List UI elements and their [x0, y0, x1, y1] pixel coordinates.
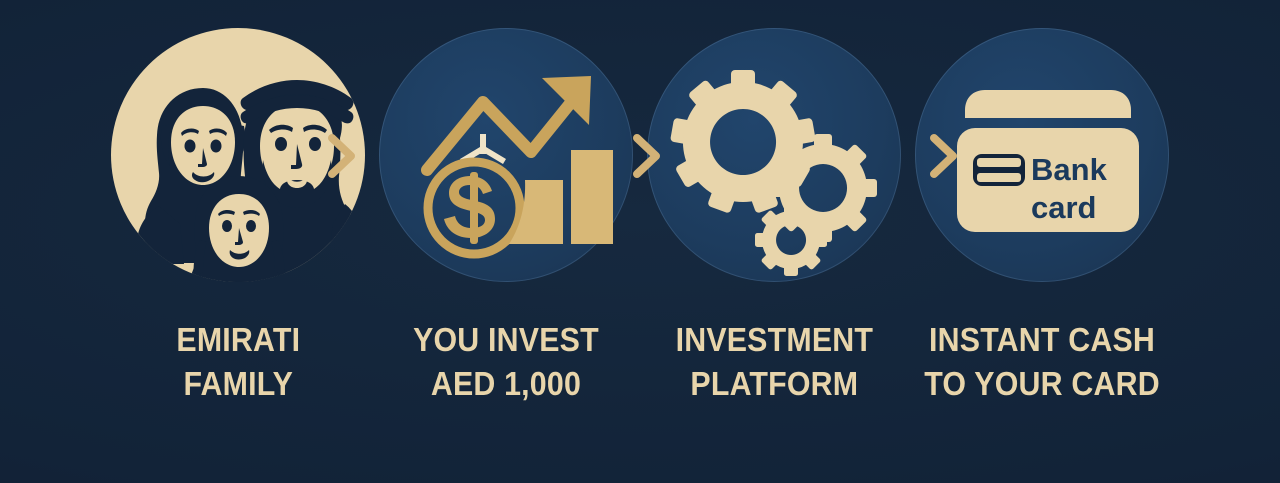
step-3-caption-line-1: INVESTMENT [675, 318, 873, 362]
step-4-caption-line-2: TO YOUR CARD [924, 362, 1160, 406]
family-icon [111, 28, 365, 282]
investment-process-infographic: EMIRATI FAMILY [0, 0, 1280, 483]
step-1-caption-line-2: FAMILY [176, 362, 300, 406]
step-you-invest: YOU INVEST AED 1,000 [372, 0, 640, 405]
step-instant-cash: Bank card INSTANT CASH TO YOUR CARD [908, 0, 1176, 405]
step-emirati-family: EMIRATI FAMILY [104, 0, 372, 405]
step-2-caption-line-2: AED 1,000 [413, 362, 599, 406]
card-chip-icon [973, 154, 1025, 186]
steps-row: EMIRATI FAMILY [0, 0, 1280, 483]
card-label-line-1: Bank [1031, 152, 1108, 187]
step-4-icon-container: Bank card [915, 28, 1169, 282]
step-investment-platform: INVESTMENT PLATFORM [640, 0, 908, 405]
step-1-caption-line-1: EMIRATI [176, 318, 300, 362]
step-1-caption: EMIRATI FAMILY [176, 318, 300, 405]
step-2-caption-line-1: YOU INVEST [413, 318, 599, 362]
step-3-caption-line-2: PLATFORM [675, 362, 873, 406]
step-1-icon-container [111, 28, 365, 282]
step-3-caption: INVESTMENT PLATFORM [675, 318, 873, 405]
gears-icon [647, 28, 901, 282]
step-4-caption-line-1: INSTANT CASH [924, 318, 1160, 362]
growth-chart-icon [379, 28, 633, 282]
card-label-line-2: card [1031, 190, 1096, 225]
step-2-caption: YOU INVEST AED 1,000 [413, 318, 599, 405]
step-3-icon-container [647, 28, 901, 282]
bank-card-icon: Bank card [915, 28, 1169, 282]
step-4-caption: INSTANT CASH TO YOUR CARD [924, 318, 1160, 405]
step-2-icon-container [379, 28, 633, 282]
